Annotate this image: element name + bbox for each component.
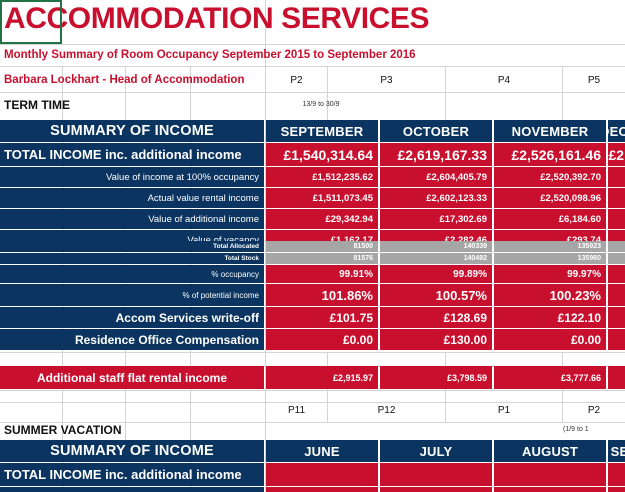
summer-month-september: SEPTEM <box>608 440 625 462</box>
term-row-label: Actual value rental income <box>0 188 264 208</box>
term-row-value: £1 <box>608 209 625 229</box>
grid-line <box>0 66 625 67</box>
term-row-value: 10 <box>608 284 625 306</box>
term-date-note: 13/9 to 30/9 <box>266 96 376 112</box>
term-row-value: 81500 <box>266 241 378 252</box>
term-row-label: Value of income at 100% occupancy <box>0 167 264 187</box>
term-row-value: £1,540,314.64 <box>266 143 378 166</box>
term-row-label: % occupancy <box>0 265 264 283</box>
summer-month-july: JULY <box>380 440 492 462</box>
staff-flat-value: £ <box>608 366 625 389</box>
term-row-value <box>608 265 625 283</box>
term-month-october: OCTOBER <box>380 120 492 142</box>
term-row-value: £6,184.60 <box>494 209 606 229</box>
summer-period-p2: P2 <box>563 400 625 420</box>
term-row-value: 81576 <box>266 253 378 264</box>
term-row-value: £128.69 <box>380 307 492 328</box>
term-row-value: 140492 <box>380 253 492 264</box>
term-row-value: £ <box>608 307 625 328</box>
term-row-value: 100.23% <box>494 284 606 306</box>
document-author: Barbara Lockhart - Head of Accommodation <box>4 74 244 86</box>
cell-selection-border[interactable] <box>0 0 62 44</box>
summer-vacation-label: SUMMER VACATION <box>0 421 180 439</box>
term-row-label: Accom Services write-off <box>0 307 264 328</box>
term-row-value: £2,60 <box>608 167 625 187</box>
term-row-value: £2,520,098.96 <box>494 188 606 208</box>
term-row-value: £2,604,405.79 <box>380 167 492 187</box>
term-period-p3: P3 <box>328 70 445 90</box>
summer-row-label: Value of income at 100% occupancy <box>0 487 264 492</box>
summer-period-p11: P11 <box>266 400 327 420</box>
term-month-september: SEPTEMBER <box>266 120 378 142</box>
term-period-p5: P5 <box>563 70 625 90</box>
term-row-value: £130.00 <box>380 329 492 350</box>
grid-line <box>0 352 625 353</box>
term-row-label: Total Stock <box>0 253 264 264</box>
document-subtitle: Monthly Summary of Room Occupancy Septem… <box>4 49 416 61</box>
term-row-label: Value of additional income <box>0 209 264 229</box>
grid-line <box>0 390 625 391</box>
summer-row-value <box>494 487 606 492</box>
term-period-p2: P2 <box>266 70 327 90</box>
term-row-value: £122.10 <box>494 307 606 328</box>
term-period-p4: P4 <box>446 70 562 90</box>
staff-flat-label: Additional staff flat rental income <box>0 366 264 389</box>
summer-period-p12: P12 <box>328 400 445 420</box>
term-row-value: £17,302.69 <box>380 209 492 229</box>
summer-row-value <box>380 487 492 492</box>
term-row-value <box>608 253 625 264</box>
term-row-value <box>608 241 625 252</box>
summer-period-p1: P1 <box>446 400 562 420</box>
term-row-value: 100.57% <box>380 284 492 306</box>
term-row-value: 135960 <box>494 253 606 264</box>
grid-line <box>0 92 625 93</box>
term-row-value: £1,511,073.45 <box>266 188 378 208</box>
term-row-value: 99.97% <box>494 265 606 283</box>
page-title: ACCOMMODATION SERVICES <box>4 2 429 36</box>
term-row-label: Total Allocated <box>0 241 264 252</box>
term-row-value: £2,602,123.33 <box>380 188 492 208</box>
term-row-label: Residence Office Compensation <box>0 329 264 350</box>
term-month-december: DECEMBER <box>608 120 625 142</box>
term-time-label: TERM TIME <box>0 96 120 114</box>
term-row-value: 135923 <box>494 241 606 252</box>
term-row-value: £0.00 <box>266 329 378 350</box>
staff-flat-value: £2,915.97 <box>266 366 378 389</box>
term-row-label: % of potential income <box>0 284 264 306</box>
grid-line <box>0 44 625 45</box>
term-row-value: 101.86% <box>266 284 378 306</box>
summer-row-label: TOTAL INCOME inc. additional income <box>0 463 264 486</box>
summer-date-note: (1/9 to 1 <box>563 422 625 436</box>
term-row-value: £2,59 <box>608 188 625 208</box>
term-row-value: £2,615,3 <box>608 143 625 166</box>
term-row-value: £2,619,167.33 <box>380 143 492 166</box>
summer-month-august: AUGUST <box>494 440 606 462</box>
summer-row-value <box>608 487 625 492</box>
staff-flat-value: £3,798.59 <box>380 366 492 389</box>
summer-row-value <box>608 463 625 486</box>
term-summary-header: SUMMARY OF INCOME <box>0 120 264 142</box>
summer-row-value <box>266 463 378 486</box>
term-row-value: £1,512,235.62 <box>266 167 378 187</box>
term-row-value: 99.91% <box>266 265 378 283</box>
summer-row-value <box>380 463 492 486</box>
term-row-value: £2,526,161.46 <box>494 143 606 166</box>
summer-row-value <box>266 487 378 492</box>
term-month-november: NOVEMBER <box>494 120 606 142</box>
term-row-value: £29,342.94 <box>266 209 378 229</box>
term-row-label: TOTAL INCOME inc. additional income <box>0 143 264 166</box>
term-row-value: £ <box>608 329 625 350</box>
term-row-value: £2,520,392.70 <box>494 167 606 187</box>
summer-summary-header: SUMMARY OF INCOME <box>0 440 264 462</box>
spreadsheet-canvas: ACCOMMODATION SERVICES Monthly Summary o… <box>0 0 625 492</box>
summer-month-june: JUNE <box>266 440 378 462</box>
term-row-value: £101.75 <box>266 307 378 328</box>
term-row-value: 140339 <box>380 241 492 252</box>
staff-flat-value: £3,777.66 <box>494 366 606 389</box>
term-row-value: £0.00 <box>494 329 606 350</box>
term-row-value: 99.89% <box>380 265 492 283</box>
summer-row-value <box>494 463 606 486</box>
